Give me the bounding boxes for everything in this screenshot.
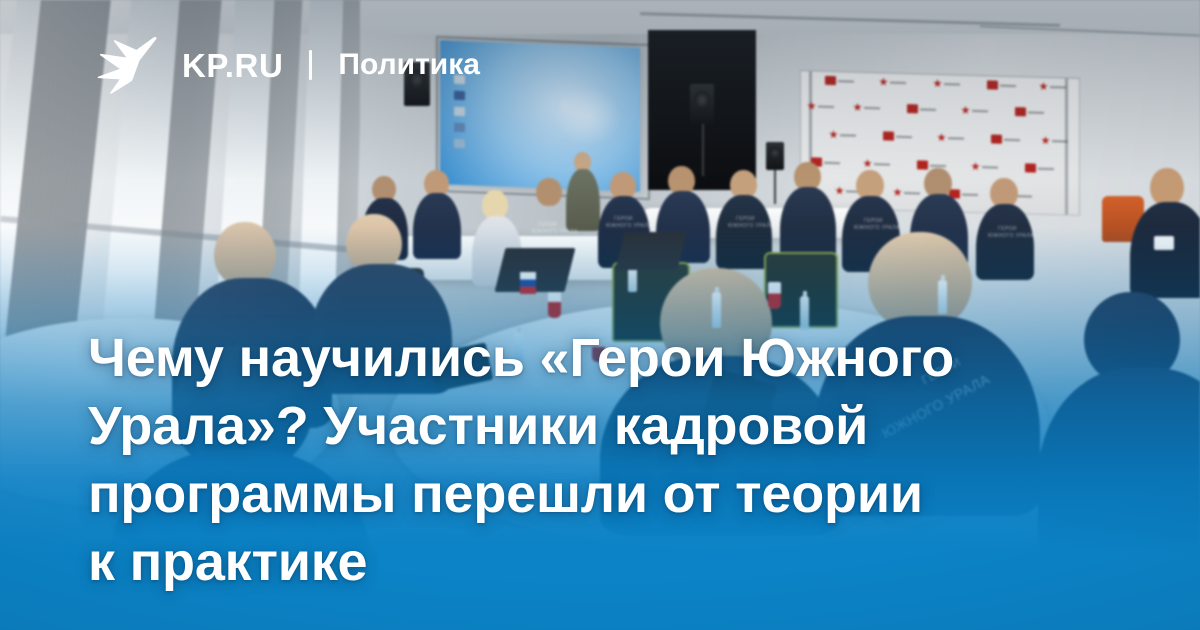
rubric-label[interactable]: Политика [338,50,479,80]
headline-line-3: программы перешли от теории [88,460,1048,528]
brand-bar[interactable]: KP.RU Политика [96,36,480,94]
swallow-bird-icon [96,36,158,94]
headline-line-2: Урала»? Участники кадровой [88,392,1048,460]
brand-name: KP.RU [182,49,283,82]
page-title: Чему научились «Герои Южного Урала»? Уча… [88,324,1048,596]
social-share-card: ГЕРОИ ЮЖНОГО УРАЛА ГЕРОИ ЮЖНОГО УРАЛА ГЕ… [0,0,1200,630]
brand-separator [309,50,312,80]
headline-line-1: Чему научились «Герои Южного [88,324,1048,392]
headline-line-4: к практике [88,528,1048,596]
